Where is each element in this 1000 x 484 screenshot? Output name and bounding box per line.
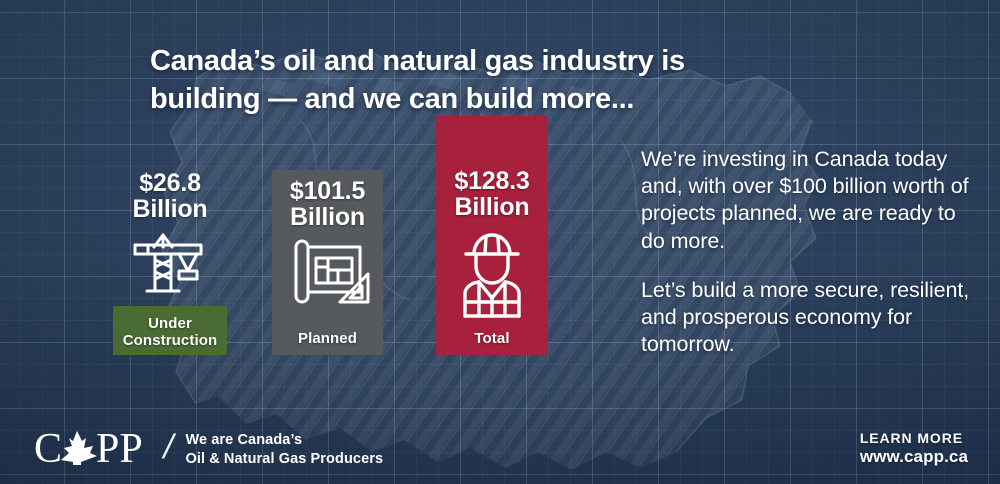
caption-under-construction: Under Construction [113,315,227,350]
infographic-canvas: Canada’s oil and natural gas industry is… [0,0,1000,484]
page-title: Canada’s oil and natural gas industry is… [150,43,950,118]
body-copy: We’re investing in Canada today and, wit… [641,146,971,358]
blueprint-icon [272,230,383,318]
svg-text:C: C [34,428,62,472]
tagline-line-1: We are Canada’s [185,431,383,450]
worker-icon [436,222,548,322]
copy-paragraph-2: Let’s build a more secure, resilient, an… [641,277,971,359]
caption-line-1: Planned [298,330,357,347]
tagline-line-2: Oil & Natural Gas Producers [185,450,383,469]
caption-line-1: Under [148,315,192,332]
value-unit: Billion [113,196,227,222]
learn-more-block[interactable]: LEARN MORE www.capp.ca [860,430,968,468]
caption-planned: Planned [272,330,383,347]
caption-line-1: Total [474,330,509,347]
caption-line-2: Construction [123,332,218,349]
value-total: $128.3 Billion [436,168,548,220]
svg-text:PP: PP [96,428,143,472]
value-amount: $26.8 [139,169,201,197]
caption-total: Total [436,330,548,347]
value-amount: $101.5 [290,177,365,205]
maple-leaf-icon [61,431,97,465]
copy-paragraph-1: We’re investing in Canada today and, wit… [641,146,971,255]
capp-tagline: We are Canada’s Oil & Natural Gas Produc… [185,431,383,469]
value-amount: $128.3 [454,167,529,195]
value-planned: $101.5 Billion [272,178,383,230]
capp-wordmark: C PP [34,428,152,472]
crane-icon [113,224,227,304]
logo-divider: / [160,430,177,464]
website-url[interactable]: www.capp.ca [860,447,968,468]
value-unit: Billion [272,204,383,230]
headline-line-2: building — and we can build more... [150,81,950,119]
capp-logo[interactable]: C PP / We are Canada’s Oil & Natural Gas… [34,428,383,472]
value-under-construction: $26.8 Billion [113,170,227,222]
value-unit: Billion [436,194,548,220]
headline-line-1: Canada’s oil and natural gas industry is [150,43,950,81]
learn-more-label: LEARN MORE [860,430,968,447]
